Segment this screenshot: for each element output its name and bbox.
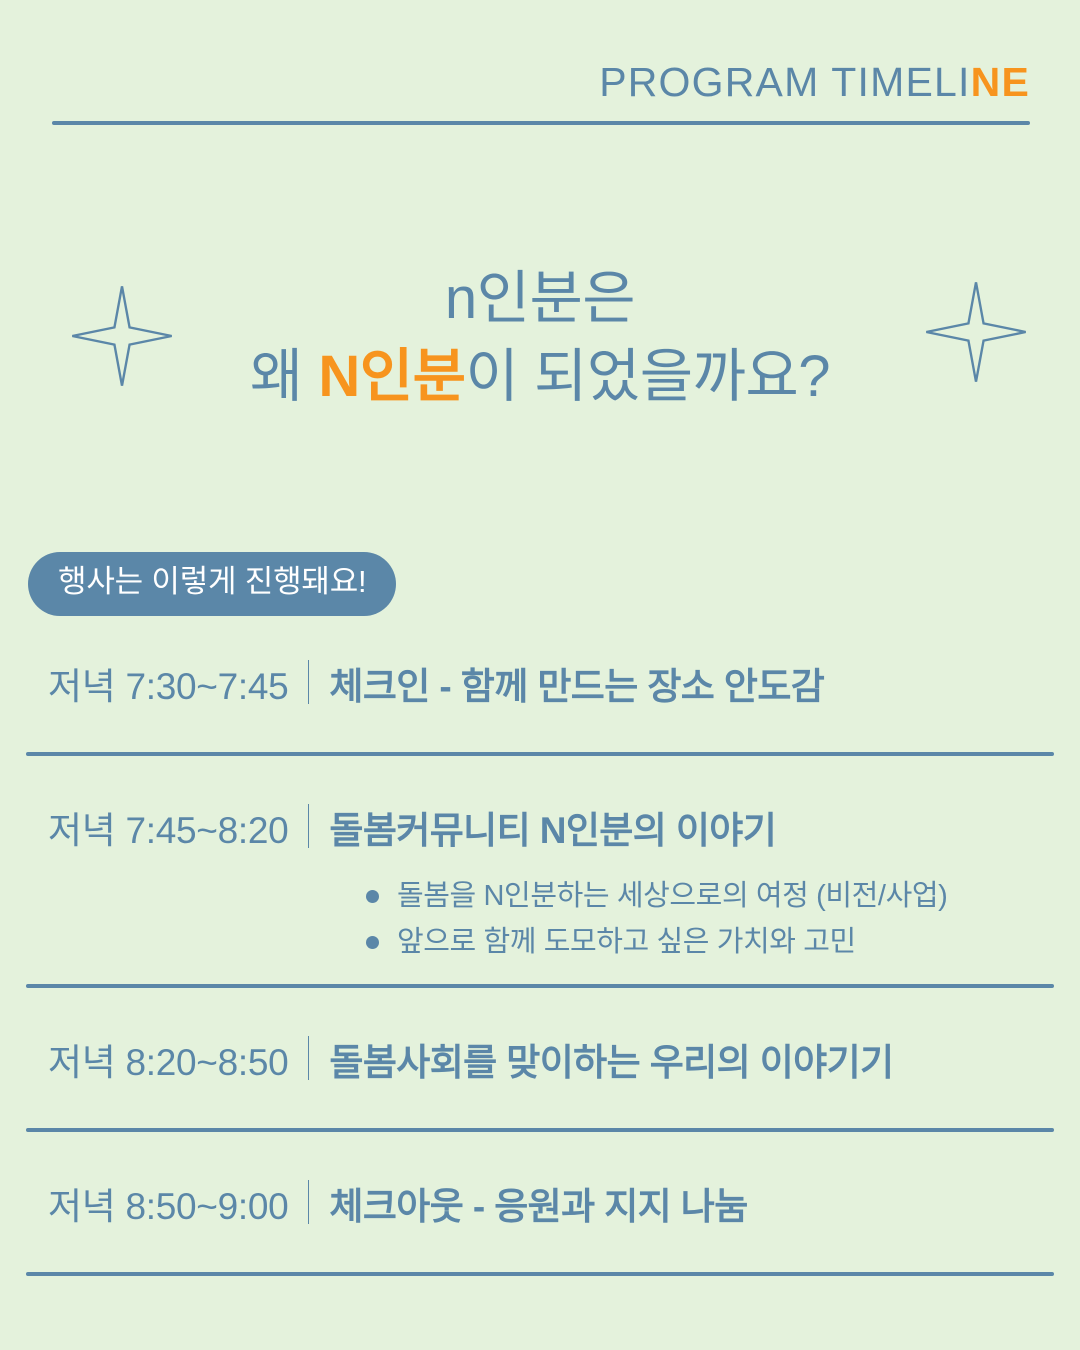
title-line-2-accent: N인분	[318, 344, 465, 409]
timeline-time: 저녁 8:20~8:50	[48, 1032, 288, 1086]
title-line-2-before: 왜	[250, 344, 318, 409]
timeline-row: 저녁 8:50~9:00 체크아웃 - 응원과 지지 나눔	[26, 1162, 1054, 1246]
timeline-separator-icon	[308, 804, 309, 848]
timeline-row: 저녁 8:20~8:50 돌봄사회를 맞이하는 우리의 이야기기	[26, 1018, 1054, 1102]
title-line-2-after: 이 되었을까요?	[466, 344, 831, 409]
header-title-accent: NE	[971, 59, 1030, 105]
bullet-text: 돌봄을 N인분하는 세상으로의 여정 (비전/사업)	[397, 874, 947, 920]
timeline-row-main: 저녁 7:30~7:45 체크인 - 함께 만드는 장소 안도감	[26, 642, 1054, 726]
timeline-row-main: 저녁 8:20~8:50 돌봄사회를 맞이하는 우리의 이야기기	[26, 1018, 1054, 1102]
timeline-separator-icon	[308, 1036, 309, 1080]
timeline-separator-icon	[308, 1180, 309, 1224]
timeline-time: 저녁 7:30~7:45	[48, 656, 288, 710]
page-header: PROGRAM TIMELINE	[52, 62, 1030, 124]
list-item: 앞으로 함께 도모하고 싶은 가치와 고민	[366, 920, 1054, 966]
title-line-2: 왜 N인분이 되었을까요?	[0, 340, 1080, 414]
timeline-spacer	[26, 1132, 1054, 1162]
header-title: PROGRAM TIMELINE	[52, 62, 1030, 103]
poster-canvas: PROGRAM TIMELINE n인분은 왜 N인분이 되었을까요? 행사는 …	[0, 0, 1080, 1350]
timeline-spacer	[26, 988, 1054, 1018]
bullet-dot-icon	[366, 890, 379, 903]
timeline-time: 저녁 8:50~9:00	[48, 1176, 288, 1230]
timeline-spacer	[26, 1102, 1054, 1128]
bullet-dot-icon	[366, 936, 379, 949]
timeline-list: 저녁 7:30~7:45 체크인 - 함께 만드는 장소 안도감 저녁 7:45…	[26, 642, 1054, 1276]
bullet-text: 앞으로 함께 도모하고 싶은 가치와 고민	[397, 920, 856, 966]
timeline-spacer	[26, 726, 1054, 752]
timeline-spacer	[26, 1246, 1054, 1272]
list-item: 돌봄을 N인분하는 세상으로의 여정 (비전/사업)	[366, 874, 1054, 920]
timeline-separator-icon	[308, 660, 309, 704]
timeline-time: 저녁 7:45~8:20	[48, 800, 288, 854]
timeline-row: 저녁 7:30~7:45 체크인 - 함께 만드는 장소 안도감	[26, 642, 1054, 726]
timeline-row-main: 저녁 8:50~9:00 체크아웃 - 응원과 지지 나눔	[26, 1162, 1054, 1246]
timeline-bullet-list: 돌봄을 N인분하는 세상으로의 여정 (비전/사업) 앞으로 함께 도모하고 싶…	[26, 874, 1054, 966]
timeline-row: 저녁 7:45~8:20 돌봄커뮤니티 N인분의 이야기 돌봄을 N인분하는 세…	[26, 786, 1054, 966]
timeline-title: 돌봄사회를 맞이하는 우리의 이야기기	[329, 1032, 893, 1086]
timeline-title: 체크인 - 함께 만드는 장소 안도감	[329, 656, 824, 710]
section-badge: 행사는 이렇게 진행돼요!	[28, 552, 396, 616]
timeline-title: 체크아웃 - 응원과 지지 나눔	[329, 1176, 747, 1230]
header-underline	[52, 121, 1030, 125]
title-line-1: n인분은	[0, 262, 1080, 336]
timeline-spacer	[26, 756, 1054, 786]
header-title-text: PROGRAM TIMELI	[599, 59, 970, 105]
timeline-row-main: 저녁 7:45~8:20 돌봄커뮤니티 N인분의 이야기	[26, 786, 1054, 870]
main-title: n인분은 왜 N인분이 되었을까요?	[0, 262, 1080, 414]
timeline-title: 돌봄커뮤니티 N인분의 이야기	[329, 800, 776, 854]
timeline-divider	[26, 1272, 1054, 1276]
